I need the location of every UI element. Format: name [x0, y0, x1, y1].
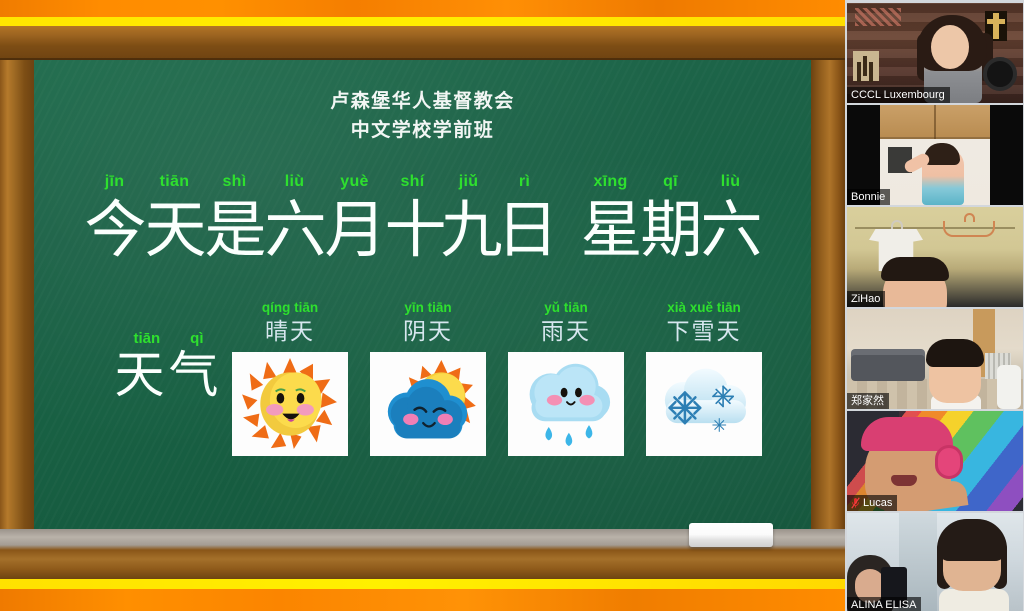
pinyin-qi: qī: [641, 173, 701, 191]
participant-tile-cccl-luxembourg[interactable]: CCCL Luxembourg: [847, 3, 1023, 103]
date-pinyin-row: jīn tiān shì liù yuè shí jiǔ rì xīng qī …: [34, 173, 811, 191]
pinyin-jiu: jiǔ: [441, 173, 497, 191]
frame-left-rail: [0, 26, 34, 583]
participant-name: Bonnie: [851, 189, 885, 205]
sun-icon: [232, 352, 348, 456]
participant-tile-zhengjiaran[interactable]: 郑家然: [847, 309, 1023, 409]
weather-card-sunny[interactable]: qíng tiān 晴天: [232, 300, 348, 456]
card-characters-yutian: 雨天: [508, 317, 624, 347]
school-title-line2: 中文学校学前班: [34, 116, 811, 145]
card-pinyin-xiaxuetian: xià xuě tiān: [646, 300, 762, 316]
card-characters-qingtian: 晴天: [232, 317, 348, 347]
participant-name-badge: Bonnie: [847, 189, 890, 205]
weather-card-list: qíng tiān 晴天: [232, 300, 762, 456]
pinyin-shi2: shí: [385, 173, 441, 191]
slide-top-yellow-band: [0, 17, 845, 26]
pinyin-liu2: liù: [701, 173, 761, 191]
participant-tile-zihao[interactable]: ZiHao: [847, 207, 1023, 307]
pinyin-liu: liù: [265, 173, 325, 191]
participant-name: ZiHao: [851, 291, 880, 307]
participant-name-badge: ZiHao: [847, 291, 885, 307]
char-xing: 星: [581, 195, 641, 265]
participant-tile-lucas[interactable]: Lucas: [847, 411, 1023, 511]
participant-name: CCCL Luxembourg: [851, 87, 945, 103]
school-title: 卢森堡华人基督教会 中文学校学前班: [34, 87, 811, 145]
char-shi2: 十: [385, 195, 441, 265]
char-yue: 月: [325, 195, 385, 265]
participant-tile-alina-elisa[interactable]: ALINA ELISA: [847, 513, 1023, 611]
slide-bottom-orange-band: [0, 589, 845, 611]
shared-screen-chalkboard-slide[interactable]: 卢森堡华人基督教会 中文学校学前班 jīn tiān shì liù yuè s…: [0, 0, 845, 611]
participant-name-badge: CCCL Luxembourg: [847, 87, 950, 103]
frame-right-rail: [811, 26, 845, 583]
pinyin-tian: tiān: [145, 173, 205, 191]
pinyin-ri: rì: [497, 173, 553, 191]
participant-name: ALINA ELISA: [851, 597, 916, 611]
participant-name: 郑家然: [851, 393, 884, 409]
zoom-meeting-window: 卢森堡华人基督教会 中文学校学前班 jīn tiān shì liù yuè s…: [0, 0, 1024, 611]
pinyin-yue: yuè: [325, 173, 385, 191]
weather-card-rainy[interactable]: yǔ tiān 雨天: [508, 300, 624, 456]
weather-heading: tiān qì 天气: [96, 330, 241, 405]
date-sentence-block: jīn tiān shì liù yuè shí jiǔ rì xīng qī …: [34, 173, 811, 265]
char-tian: 天: [145, 195, 205, 265]
participant-name-badge: ALINA ELISA: [847, 597, 921, 611]
char-qi: 期: [641, 195, 701, 265]
char-jiu: 九: [441, 195, 497, 265]
weather-card-cloudy[interactable]: yīn tiān 阴天: [370, 300, 486, 456]
char-jin: 今: [85, 195, 145, 265]
rain-cloud-icon: [508, 352, 624, 456]
char-shi: 是: [205, 195, 265, 265]
pinyin-shi: shì: [205, 173, 265, 191]
card-pinyin-yutian: yǔ tiān: [508, 300, 624, 316]
snow-cloud-icon: [646, 352, 762, 456]
char-liu: 六: [265, 195, 325, 265]
weather-heading-characters: 天气: [96, 345, 241, 405]
card-pinyin-qingtian: qíng tiān: [232, 300, 348, 316]
school-title-line1: 卢森堡华人基督教会: [34, 87, 811, 116]
pinyin-xing: xīng: [581, 173, 641, 191]
chalkboard-surface: 卢森堡华人基督教会 中文学校学前班 jīn tiān shì liù yuè s…: [34, 60, 811, 533]
participant-filmstrip[interactable]: CCCL Luxembourg Bonnie ZiHao: [845, 0, 1024, 611]
card-characters-xiaxuetian: 下雪天: [646, 317, 762, 347]
sun-behind-cloud-icon: [370, 352, 486, 456]
card-characters-yintian: 阴天: [370, 317, 486, 347]
slide-bottom-yellow-band: [0, 579, 845, 589]
participant-name-badge: Lucas: [847, 495, 897, 511]
participant-name: Lucas: [863, 495, 892, 511]
mic-muted-icon: [851, 497, 860, 509]
card-pinyin-yintian: yīn tiān: [370, 300, 486, 316]
weather-card-snowy[interactable]: xià xuě tiān 下雪天: [646, 300, 762, 456]
frame-top-rail: [0, 26, 845, 60]
weather-section: tiān qì 天气 qíng tiān 晴天: [34, 300, 811, 500]
slide-top-orange-band: [0, 0, 845, 17]
char-liu2: 六: [701, 195, 761, 265]
date-characters-row: 今 天 是 六 月 十 九 日 星 期 六: [34, 195, 811, 265]
participant-name-badge: 郑家然: [847, 393, 889, 409]
char-ri: 日: [497, 195, 553, 265]
participant-tile-bonnie[interactable]: Bonnie: [847, 105, 1023, 205]
pinyin-jin: jīn: [85, 173, 145, 191]
